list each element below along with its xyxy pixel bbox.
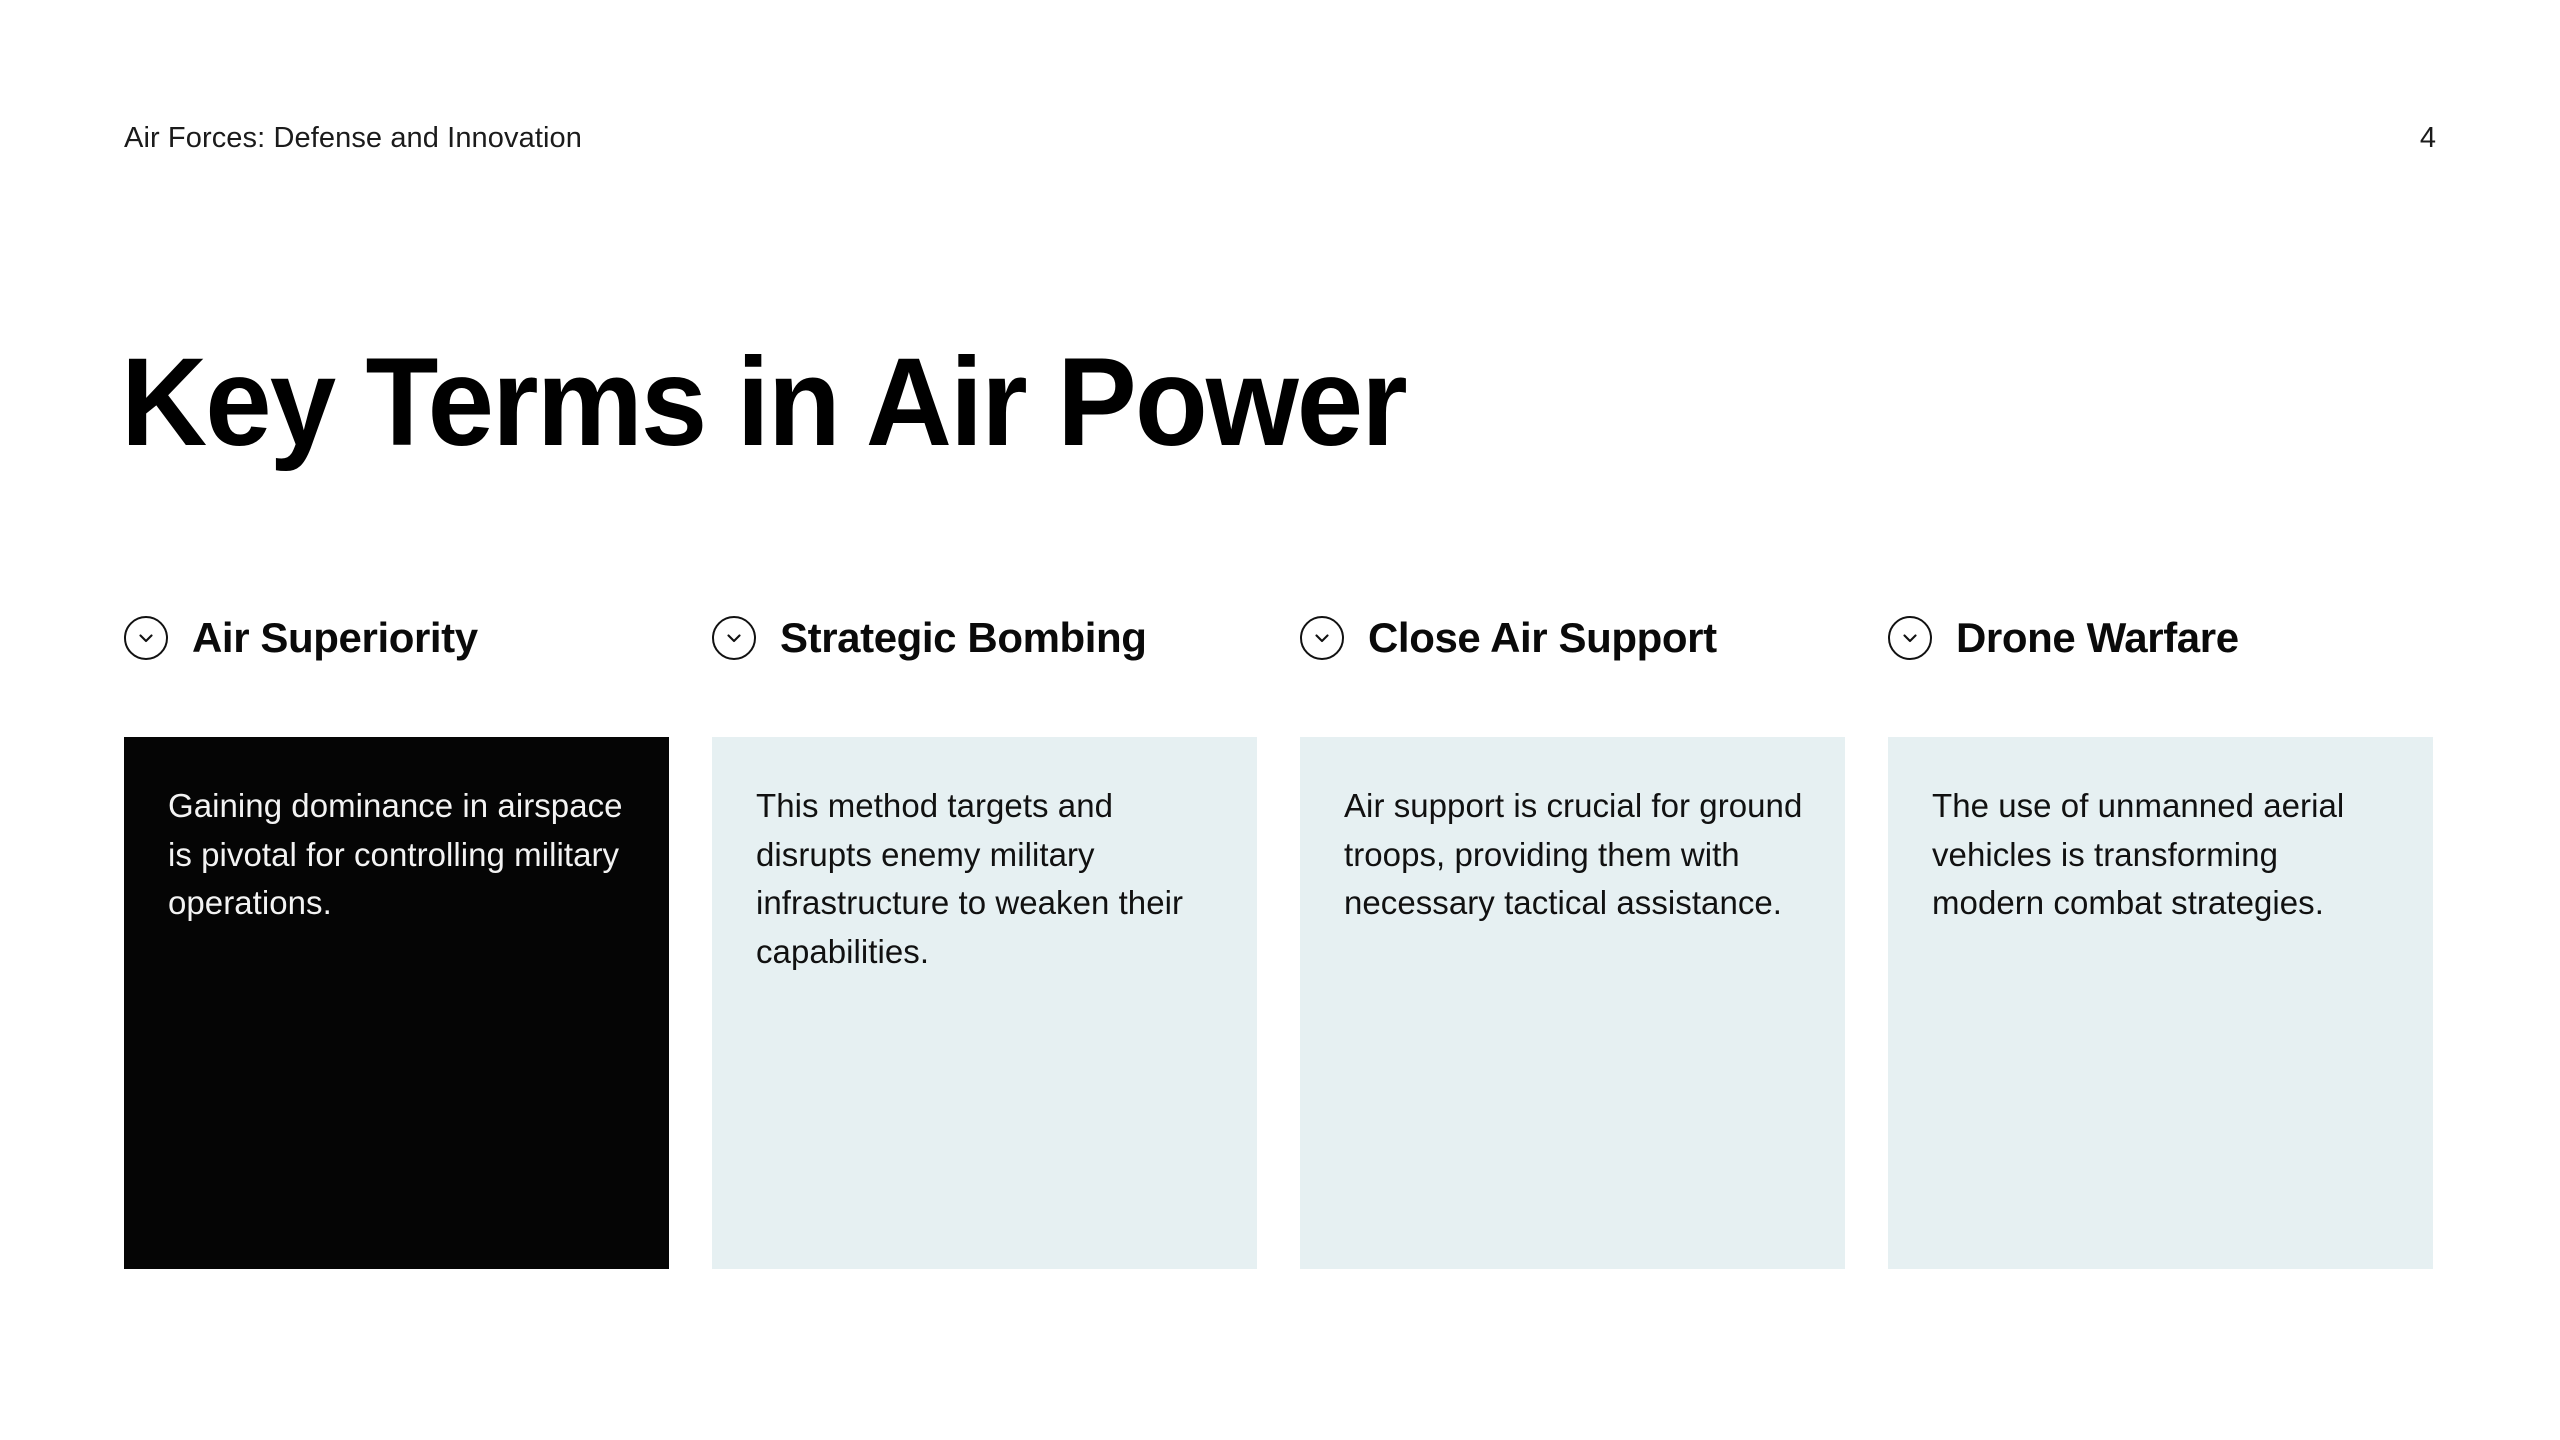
term-title: Air Superiority <box>192 614 478 663</box>
term-card: Gaining dominance in airspace is pivotal… <box>124 737 669 1269</box>
term-title: Drone Warfare <box>1956 614 2239 663</box>
chevron-down-icon[interactable] <box>1888 616 1932 660</box>
chevron-down-icon[interactable] <box>124 616 168 660</box>
term-column-air-superiority: Air Superiority Gaining dominance in air… <box>124 584 669 1269</box>
term-card: The use of unmanned aerial vehicles is t… <box>1888 737 2433 1269</box>
term-header[interactable]: Close Air Support <box>1300 584 1845 692</box>
term-description: This method targets and disrupts enemy m… <box>756 782 1217 976</box>
deck-subtitle: Air Forces: Defense and Innovation <box>124 124 582 153</box>
page-title: Key Terms in Air Power <box>121 337 1406 468</box>
term-title: Close Air Support <box>1368 614 1717 663</box>
term-column-drone-warfare: Drone Warfare The use of unmanned aerial… <box>1888 584 2433 1269</box>
term-column-strategic-bombing: Strategic Bombing This method targets an… <box>712 584 1257 1269</box>
term-title: Strategic Bombing <box>780 614 1147 663</box>
term-header[interactable]: Strategic Bombing <box>712 584 1257 692</box>
term-card: This method targets and disrupts enemy m… <box>712 737 1257 1269</box>
term-header[interactable]: Air Superiority <box>124 584 669 692</box>
chevron-down-icon[interactable] <box>712 616 756 660</box>
term-columns: Air Superiority Gaining dominance in air… <box>124 584 2439 1269</box>
term-description: The use of unmanned aerial vehicles is t… <box>1932 782 2393 928</box>
page-number: 4 <box>2420 124 2436 153</box>
term-card: Air support is crucial for ground troops… <box>1300 737 1845 1269</box>
term-description: Gaining dominance in airspace is pivotal… <box>168 782 629 928</box>
term-header[interactable]: Drone Warfare <box>1888 584 2433 692</box>
slide-header: Air Forces: Defense and Innovation 4 <box>124 118 2436 158</box>
term-column-close-air-support: Close Air Support Air support is crucial… <box>1300 584 1845 1269</box>
slide-canvas: Air Forces: Defense and Innovation 4 Key… <box>0 0 2560 1440</box>
chevron-down-icon[interactable] <box>1300 616 1344 660</box>
term-description: Air support is crucial for ground troops… <box>1344 782 1805 928</box>
